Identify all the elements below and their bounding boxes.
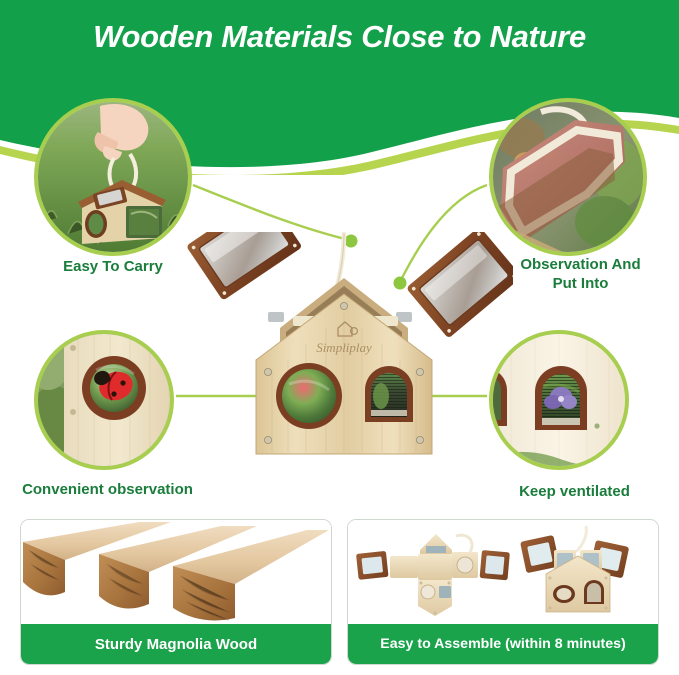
feature-photo-observation-and-put-into (489, 98, 647, 256)
card-label-sturdy-magnolia-wood: Sturdy Magnolia Wood (21, 624, 331, 664)
card-sturdy-magnolia-wood: Sturdy Magnolia Wood (20, 519, 332, 665)
feature-label-easy-to-carry: Easy To Carry (20, 258, 206, 277)
svg-text:Simpliplay: Simpliplay (316, 340, 372, 355)
feature-label-keep-ventilated: Keep ventilated (487, 483, 662, 502)
card-photo-sturdy-magnolia-wood (21, 520, 331, 626)
feature-photo-keep-ventilated (489, 330, 629, 470)
feature-label-convenient-observation: Convenient observation (5, 481, 210, 500)
page-title: Wooden Materials Close to Nature (0, 19, 679, 55)
card-easy-to-assemble: Easy to Assemble (within 8 minutes) (347, 519, 659, 665)
card-label-easy-to-assemble: Easy to Assemble (within 8 minutes) (348, 624, 658, 664)
feature-photo-convenient-observation (34, 330, 174, 470)
card-photo-easy-to-assemble (348, 520, 658, 626)
infographic-page: Wooden Materials Close to Nature (0, 0, 679, 675)
feature-label-observation-and-put-into: Observation And Put Into (493, 256, 668, 294)
feature-photo-easy-to-carry (34, 98, 192, 256)
product-main-image: Simpliplay (168, 232, 513, 470)
